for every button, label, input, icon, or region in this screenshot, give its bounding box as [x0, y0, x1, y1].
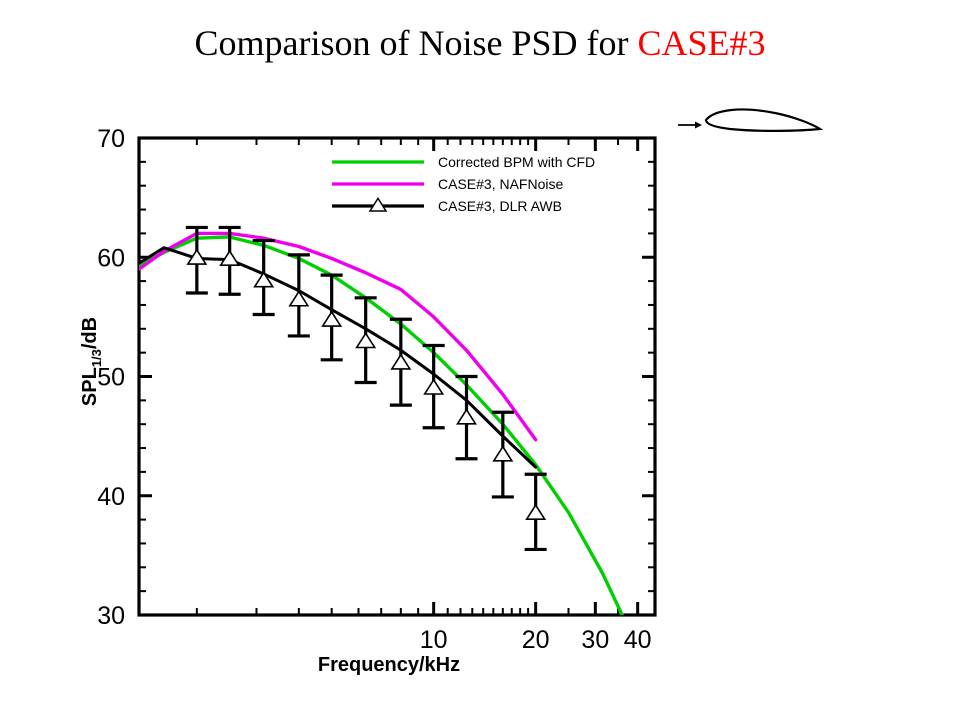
x-tick-label: 30: [581, 626, 609, 654]
x-tick-label: 40: [624, 626, 652, 654]
plot-frame: [139, 138, 655, 615]
legend-label-0: Corrected BPM with CFD: [438, 154, 595, 170]
y-axis-title-text: SPL1/3/dB: [79, 317, 104, 406]
airfoil-cross-section: [678, 109, 820, 130]
data-marker-triangle: [392, 355, 410, 369]
x-axis-title: Frequency/kHz: [318, 654, 460, 676]
x-tick-label: 10: [420, 626, 448, 654]
data-marker-triangle: [255, 273, 273, 287]
slide-canvas: Comparison of Noise PSD for CASE#3 30405…: [0, 0, 960, 720]
y-tick-label: 40: [97, 483, 125, 511]
data-marker-triangle: [357, 333, 375, 347]
noise-psd-chart: 304050607010203040Frequency/kHzSPL1/3/dB…: [0, 0, 960, 720]
data-marker-triangle: [425, 380, 443, 394]
y-axis-title: SPL1/3/dB: [79, 317, 104, 406]
y-tick-label: 30: [97, 602, 125, 630]
data-marker-triangle: [458, 410, 476, 424]
y-tick-label: 70: [97, 125, 125, 153]
flow-arrow-head: [695, 122, 702, 129]
legend-label-2: CASE#3, DLR AWB: [438, 198, 562, 214]
series-line-corrected-bpm-with-cfd: [139, 237, 622, 615]
x-tick-label: 20: [522, 626, 550, 654]
legend-label-1: CASE#3, NAFNoise: [438, 176, 563, 192]
chart-svg: 304050607010203040Frequency/kHzSPL1/3/dB…: [0, 0, 960, 720]
data-marker-triangle: [527, 505, 545, 519]
airfoil-shape: [706, 109, 820, 130]
data-marker-triangle: [494, 447, 512, 461]
y-tick-label: 60: [97, 244, 125, 272]
